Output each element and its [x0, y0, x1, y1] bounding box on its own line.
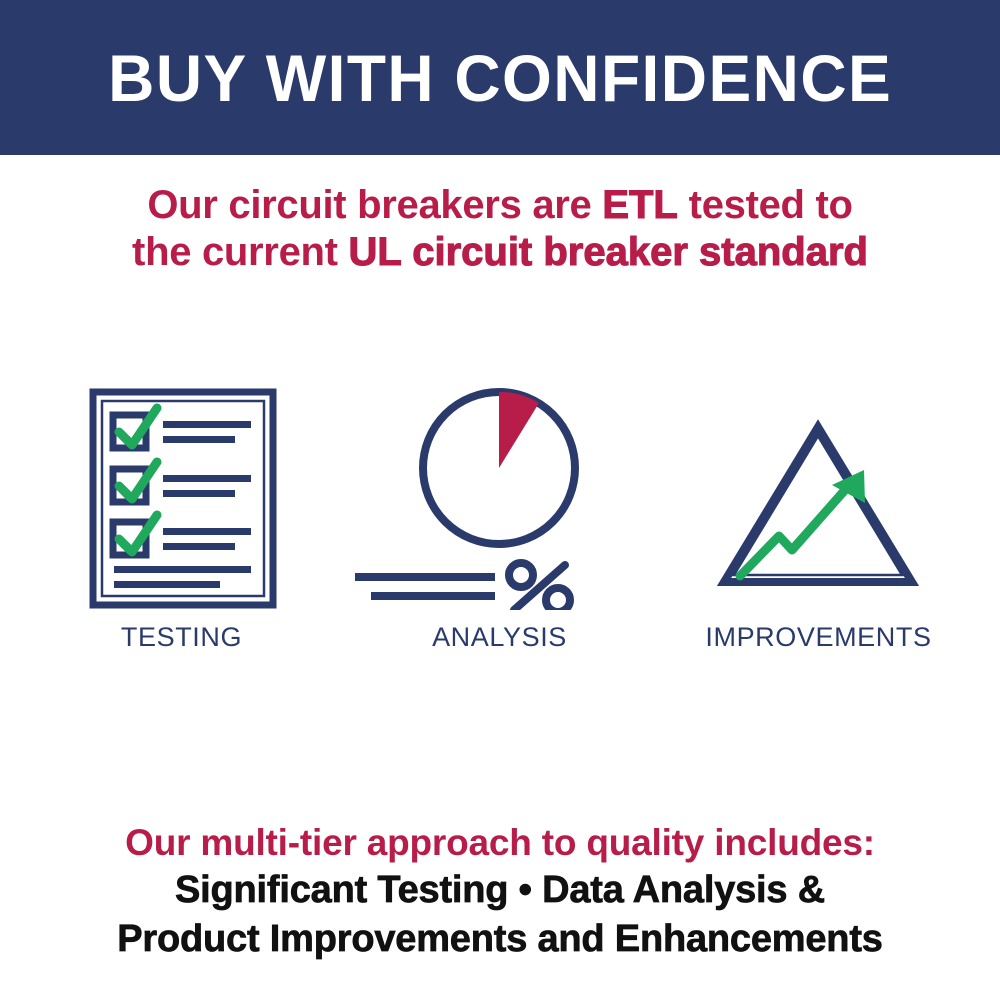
- icon-cell-improvements: IMPROVEMENTS: [652, 370, 985, 690]
- footer-lead-line: Our multi-tier approach to quality inclu…: [40, 820, 960, 866]
- triangle-growth-arrow-icon: [652, 370, 985, 610]
- footer-line-2: Significant Testing • Data Analysis &: [40, 866, 960, 915]
- icon-cell-analysis: ANALYSIS: [333, 370, 666, 690]
- icon-cell-testing: TESTING: [15, 370, 348, 690]
- pie-chart-percent-icon: [333, 370, 666, 610]
- subtitle-line-1-pre: Our circuit breakers are: [147, 183, 602, 227]
- subtitle-line-2: the current UL circuit breaker standard: [50, 229, 950, 276]
- page-title: BUY WITH CONFIDENCE: [108, 45, 892, 111]
- header-band: BUY WITH CONFIDENCE: [0, 0, 1000, 155]
- subtitle-line-1: Our circuit breakers are ETL tested to: [50, 182, 950, 229]
- footer-line-3: Product Improvements and Enhancements: [40, 915, 960, 964]
- icon-row: TESTING: [0, 370, 1000, 690]
- icon-label-testing: TESTING: [15, 622, 348, 653]
- infographic-page: BUY WITH CONFIDENCE Our circuit breakers…: [0, 0, 1000, 1000]
- checklist-document-icon: [15, 370, 348, 610]
- footer-text-block: Our multi-tier approach to quality inclu…: [40, 820, 960, 964]
- icon-label-analysis: ANALYSIS: [333, 622, 666, 653]
- subtitle-ul-standard-emphasis: UL circuit breaker standard: [349, 230, 868, 274]
- subtitle-line-2-pre: the current: [132, 230, 348, 274]
- subtitle-line-1-post: tested to: [678, 183, 853, 227]
- icon-label-improvements: IMPROVEMENTS: [652, 622, 985, 653]
- subtitle-etl-emphasis: ETL: [602, 183, 678, 227]
- subtitle-text: Our circuit breakers are ETL tested to t…: [50, 182, 950, 276]
